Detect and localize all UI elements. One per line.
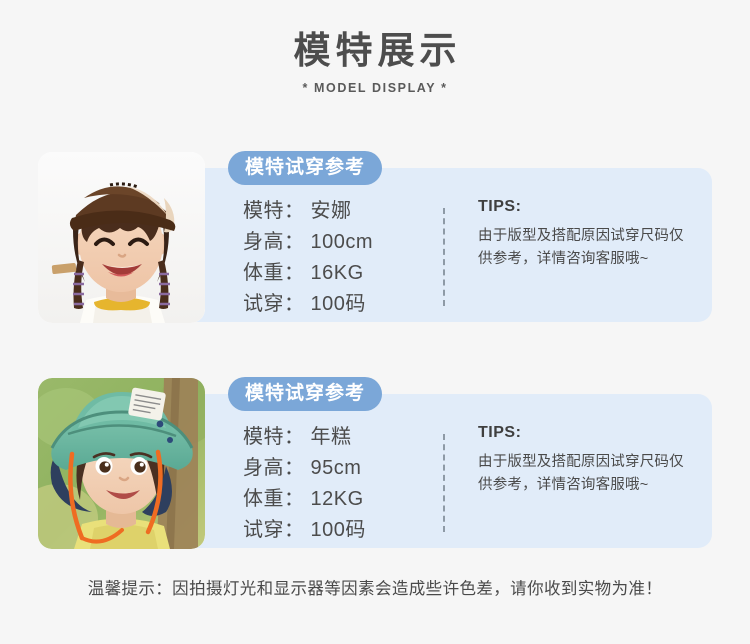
spec-value: 100cm	[311, 231, 374, 253]
spec-label: 身高：	[243, 231, 305, 253]
spec-row: 身高：95cm	[243, 453, 366, 484]
spec-label: 试穿：	[243, 293, 305, 315]
card-badge: 模特试穿参考	[228, 377, 382, 411]
spec-label: 试穿：	[243, 519, 305, 541]
dashed-divider	[443, 434, 445, 532]
spec-value: 16KG	[311, 262, 364, 284]
spec-value: 安娜	[311, 200, 352, 222]
spec-list: 模特：安娜 身高：100cm 体重：16KG 试穿：100码	[243, 196, 373, 320]
tips-title: TIPS:	[478, 198, 693, 216]
spec-label: 模特：	[243, 426, 305, 448]
model-photo	[38, 152, 205, 323]
footer-note: 温馨提示：因拍摄灯光和显示器等因素会造成些许色差，请你收到实物为准！	[0, 575, 750, 599]
page-subtitle: * MODEL DISPLAY *	[0, 81, 750, 95]
page-header: 模特展示 * MODEL DISPLAY *	[0, 0, 750, 95]
spec-label: 模特：	[243, 200, 305, 222]
spec-list: 模特：年糕 身高：95cm 体重：12KG 试穿：100码	[243, 422, 366, 546]
spec-row: 体重：16KG	[243, 258, 373, 289]
spec-label: 体重：	[243, 262, 305, 284]
tips-block: TIPS: 由于版型及搭配原因试穿尺码仅供参考，详情咨询客服哦~	[478, 198, 693, 271]
spec-row: 试穿：100码	[243, 289, 373, 320]
spec-value: 100码	[311, 293, 366, 315]
dashed-divider	[443, 208, 445, 306]
tips-block: TIPS: 由于版型及搭配原因试穿尺码仅供参考，详情咨询客服哦~	[478, 424, 693, 497]
tips-body: 由于版型及搭配原因试穿尺码仅供参考，详情咨询客服哦~	[478, 451, 693, 497]
spec-value: 12KG	[311, 488, 364, 510]
card-badge: 模特试穿参考	[228, 151, 382, 185]
spec-row: 试穿：100码	[243, 515, 366, 546]
spec-row: 身高：100cm	[243, 227, 373, 258]
spec-row: 模特：年糕	[243, 422, 366, 453]
spec-label: 身高：	[243, 457, 305, 479]
spec-value: 100码	[311, 519, 366, 541]
model-photo-image	[38, 378, 205, 549]
tips-title: TIPS:	[478, 424, 693, 442]
spec-label: 体重：	[243, 488, 305, 510]
tips-body: 由于版型及搭配原因试穿尺码仅供参考，详情咨询客服哦~	[478, 225, 693, 271]
model-photo	[38, 378, 205, 549]
spec-row: 体重：12KG	[243, 484, 366, 515]
model-photo-image	[38, 152, 205, 323]
spec-value: 95cm	[311, 457, 362, 479]
page-title: 模特展示	[0, 28, 750, 74]
spec-row: 模特：安娜	[243, 196, 373, 227]
spec-value: 年糕	[311, 426, 352, 448]
